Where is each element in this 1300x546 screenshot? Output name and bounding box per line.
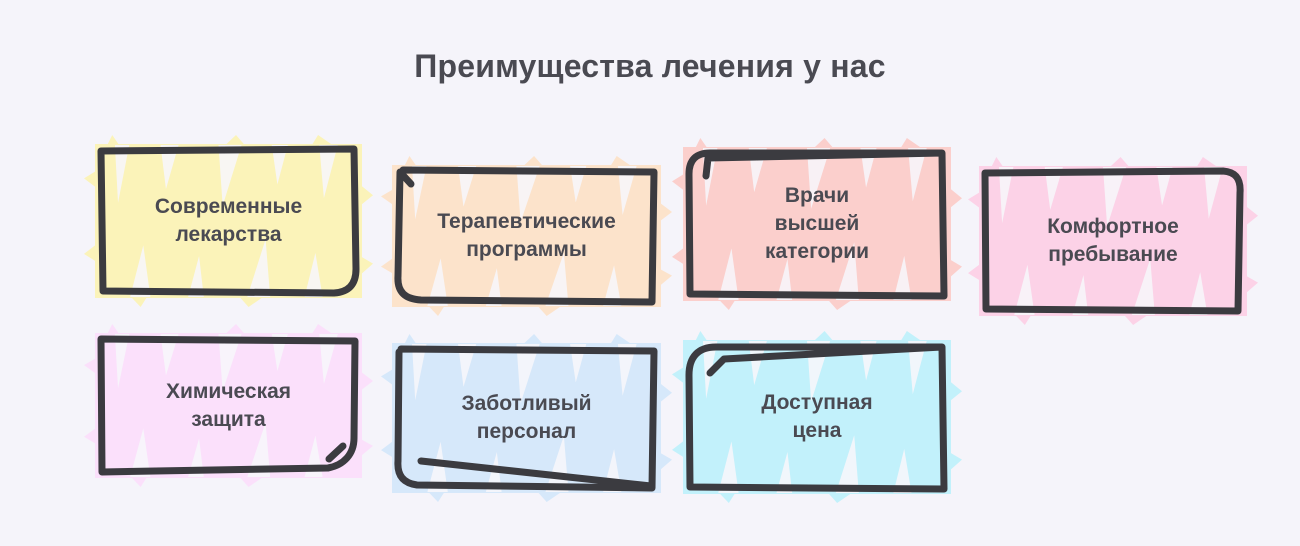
benefit-card-top-doctors[interactable]: Врачи высшей категории — [684, 148, 950, 300]
benefit-card-affordable-price[interactable]: Доступная цена — [684, 341, 950, 493]
benefit-card-chemical-protection[interactable]: Химическая защита — [96, 334, 361, 477]
infographic-canvas: { "page": { "title": "Преимущества лечен… — [0, 0, 1300, 546]
benefit-card-label: Терапевтические программы — [393, 166, 660, 306]
benefit-card-therapy-programs[interactable]: Терапевтические программы — [393, 166, 660, 306]
benefit-card-caring-staff[interactable]: Заботливый персонал — [393, 344, 660, 492]
benefit-card-label: Химическая защита — [96, 334, 361, 477]
benefit-card-label: Заботливый персонал — [393, 344, 660, 492]
benefit-card-label: Врачи высшей категории — [684, 148, 950, 300]
benefit-card-modern-medicines[interactable]: Современные лекарства — [96, 145, 361, 297]
benefit-card-label: Современные лекарства — [96, 145, 361, 297]
benefit-card-comfortable-stay[interactable]: Комфортное пребывание — [980, 167, 1246, 315]
benefit-card-label: Комфортное пребывание — [980, 167, 1246, 315]
page-title: Преимущества лечения у нас — [0, 48, 1300, 85]
benefit-card-label: Доступная цена — [684, 341, 950, 493]
